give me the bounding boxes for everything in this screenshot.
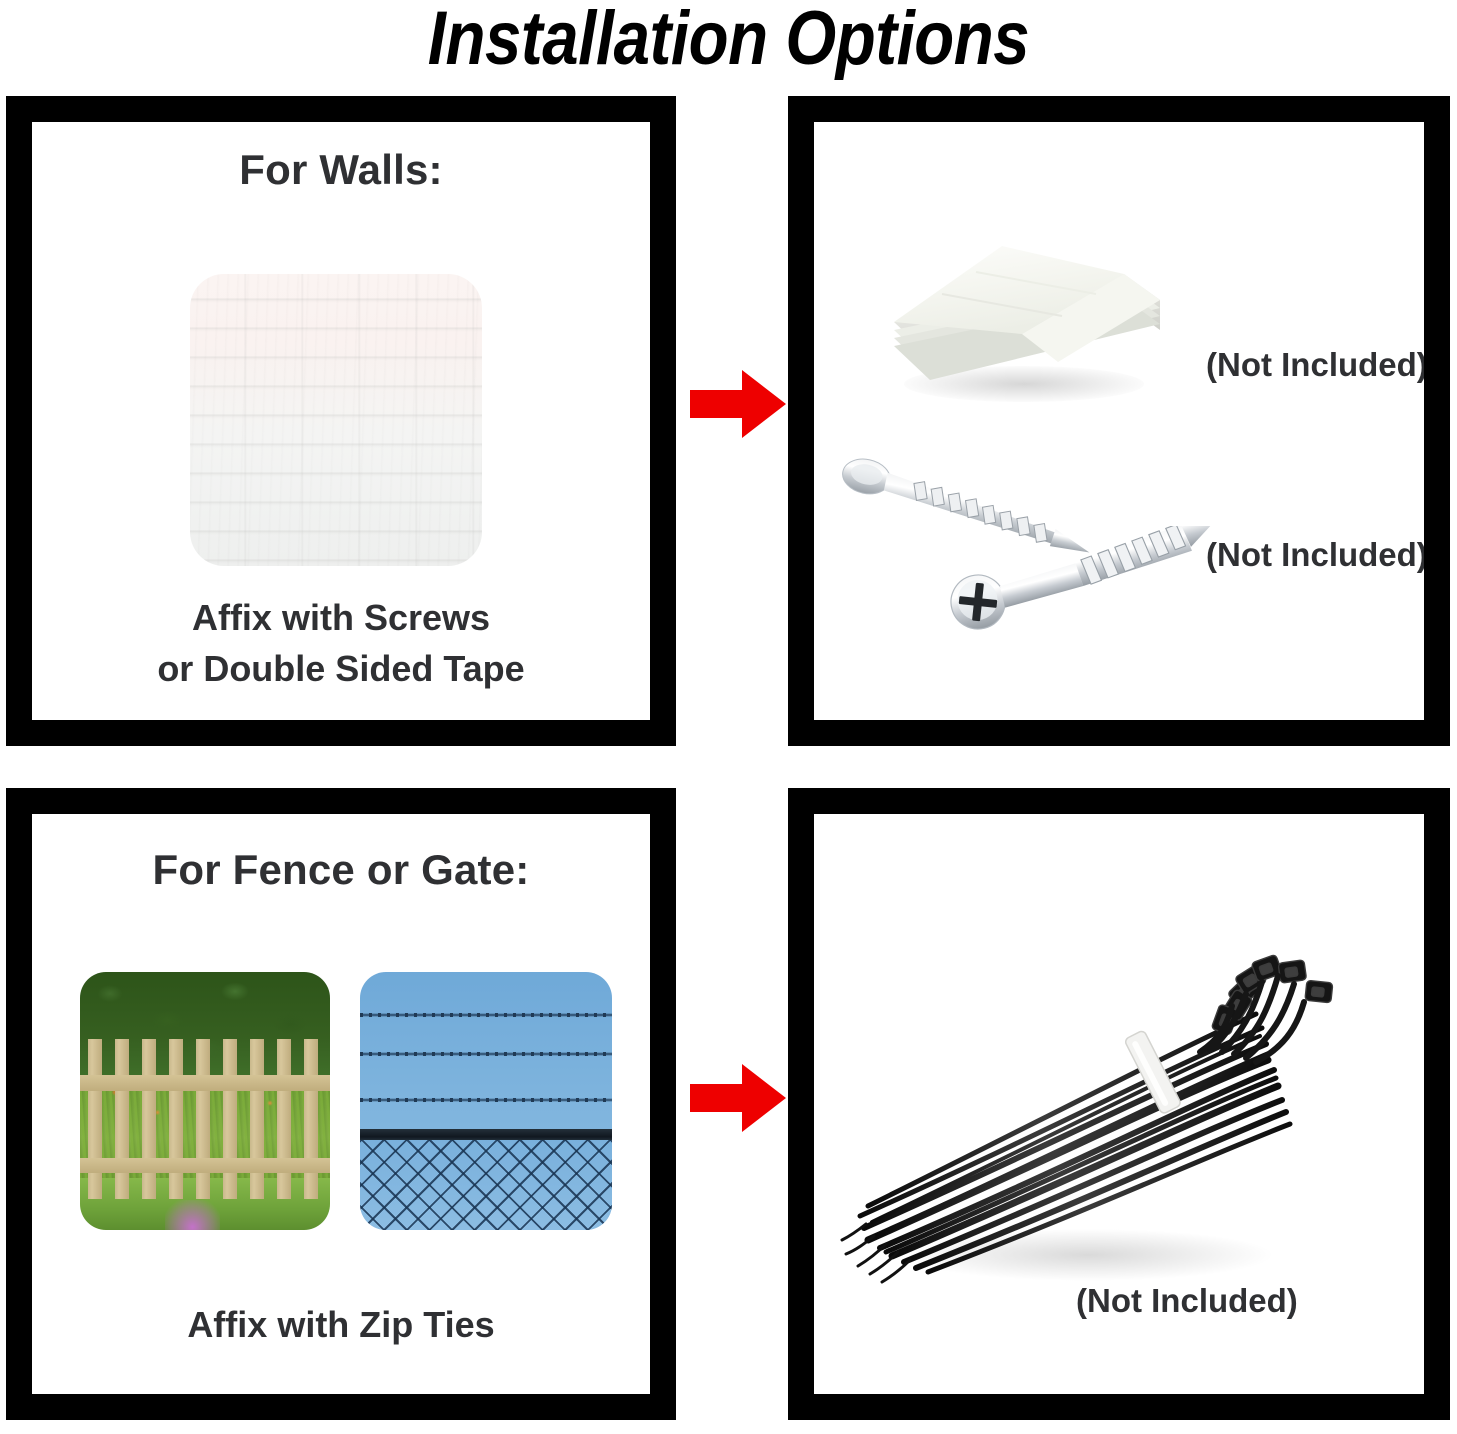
walls-caption-line-2: or Double Sided Tape	[32, 643, 650, 694]
chain-link-mesh	[360, 1140, 612, 1230]
wooden-picket-fence-photo	[80, 972, 330, 1230]
red-right-arrow	[690, 1062, 786, 1134]
double-sided-tape-stack-icon	[872, 238, 1172, 408]
walls-caption-line-1: Affix with Screws	[32, 592, 650, 643]
walls-caption: Affix with Screws or Double Sided Tape	[32, 592, 650, 694]
panel-wall-hardware: (Not Included)	[788, 96, 1450, 746]
black-zip-tie-bundle-icon	[838, 910, 1338, 1310]
fence-rail-bottom	[80, 1158, 330, 1173]
chain-link-barbed-wire-fence-photo	[360, 972, 612, 1230]
fence-caption: Affix with Zip Ties	[32, 1299, 650, 1350]
fence-pickets	[80, 1039, 330, 1199]
barbed-wire-2	[360, 1052, 612, 1056]
fence-heading: For Fence or Gate:	[32, 846, 650, 894]
panel-for-fence-or-gate: For Fence or Gate: Affix with Zip Ties	[6, 788, 676, 1420]
zip-ties-not-included-label: (Not Included)	[1076, 1282, 1298, 1320]
screws-not-included-label: (Not Included)	[1206, 536, 1424, 574]
fence-rail-top	[80, 1075, 330, 1090]
page-title: Installation Options	[102, 0, 1355, 80]
barbed-wire-1	[360, 1013, 612, 1017]
barbed-wire-3	[360, 1098, 612, 1102]
red-right-arrow	[690, 368, 786, 440]
white-painted-brick-wall-swatch	[190, 274, 482, 566]
panel-fence-hardware: (Not Included)	[788, 788, 1450, 1420]
walls-heading: For Walls:	[32, 146, 650, 194]
tape-not-included-label: (Not Included)	[1206, 346, 1424, 384]
fence-caption-line-1: Affix with Zip Ties	[32, 1299, 650, 1350]
panel-for-walls: For Walls: Affix with Screws or Double S…	[6, 96, 676, 746]
